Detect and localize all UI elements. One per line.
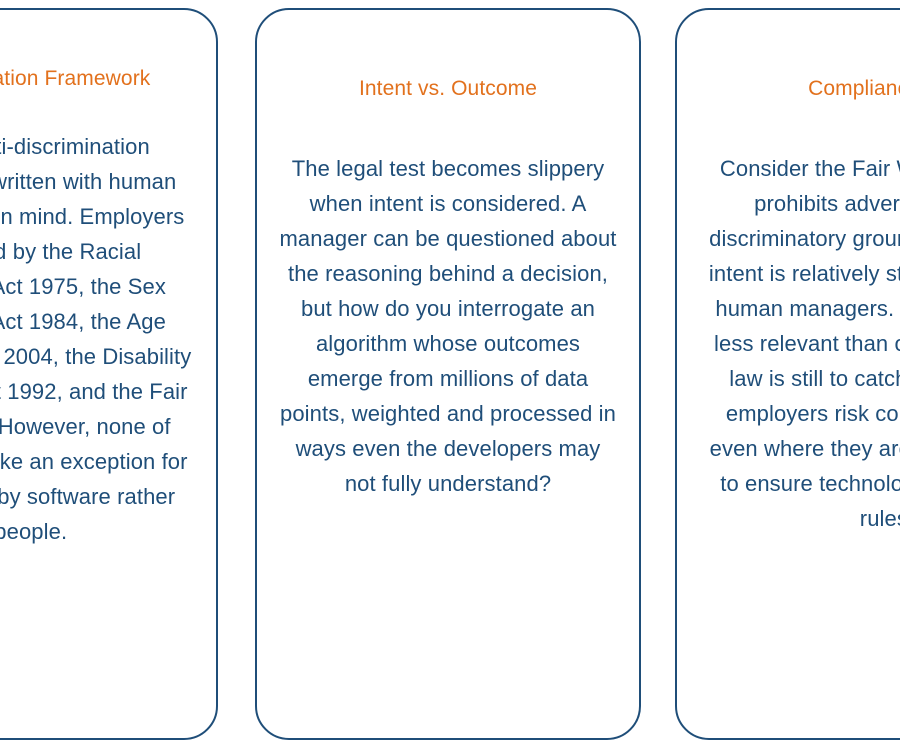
- card-intent-vs-outcome[interactable]: Intent vs. Outcome The legal test become…: [255, 8, 641, 740]
- card-body-text: The legal test becomes slippery when int…: [279, 151, 617, 501]
- slide-canvas: Anti-Discrimination Framework Australia’…: [0, 0, 900, 750]
- card-anti-discrimination-framework[interactable]: Anti-Discrimination Framework Australia’…: [0, 8, 218, 740]
- card-title: Compliance Gap: [808, 74, 900, 103]
- card-body-text: Consider the Fair Work Act, which prohib…: [699, 151, 900, 536]
- card-body-text: Australia’s anti-discrimination framewor…: [0, 129, 194, 549]
- card-title: Intent vs. Outcome: [359, 74, 537, 103]
- card-compliance-gap[interactable]: Compliance Gap Consider the Fair Work Ac…: [675, 8, 900, 740]
- card-title: Anti-Discrimination Framework: [0, 64, 150, 93]
